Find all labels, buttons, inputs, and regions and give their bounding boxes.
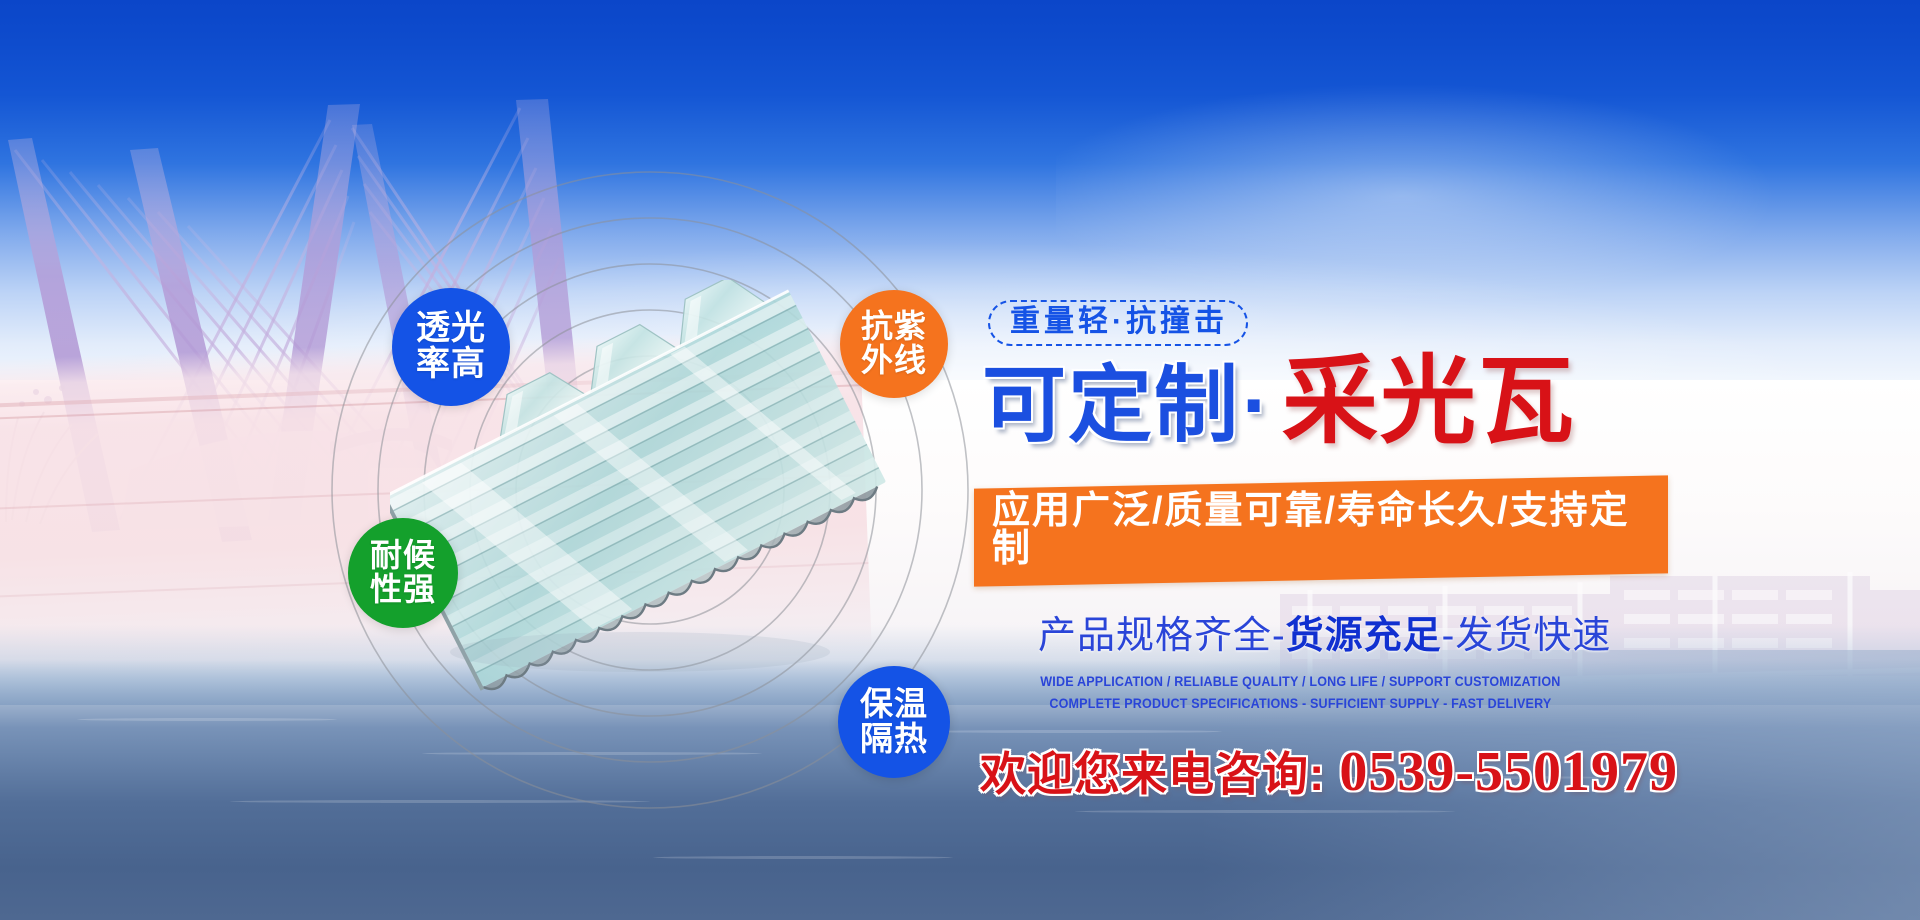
badge-light-transmittance-line2: 率高 xyxy=(416,347,486,383)
headline-product-name: 采光瓦 xyxy=(1282,348,1576,455)
sky-haze-glow-secondary xyxy=(1056,40,1920,300)
badge-light-transmittance-line1: 透光 xyxy=(416,311,486,347)
headline: 可定制·采光瓦 xyxy=(982,354,1668,450)
english-tagline-line1: WIDE APPLICATION / RELIABLE QUALITY / LO… xyxy=(1040,671,1561,693)
supply-subline-post: -发货快速 xyxy=(1442,615,1612,657)
feature-list-bar: 应用广泛/质量可靠/寿命长久/支持定制 xyxy=(974,475,1668,586)
supply-subline-pre: 产品规格齐全- xyxy=(1038,615,1286,657)
contact-phone-number[interactable]: 0539-5501979 xyxy=(1339,741,1678,803)
english-tagline-line2: COMPLETE PRODUCT SPECIFICATIONS - SUFFIC… xyxy=(1040,693,1561,715)
promo-copy-block: 重量轻·抗撞击 可定制·采光瓦 应用广泛/质量可靠/寿命长久/支持定制 产品规格… xyxy=(968,300,1668,804)
contact-phone-line[interactable]: 欢迎您来电咨询:0539-5501979 xyxy=(980,738,1668,804)
supply-subline: 产品规格齐全-货源充足-发货快速 xyxy=(1038,604,1668,659)
badge-uv-resistance-line2: 外线 xyxy=(861,344,927,378)
badge-thermal-insulation: 保温 隔热 xyxy=(838,666,950,778)
badge-light-transmittance: 透光 率高 xyxy=(392,288,510,406)
contact-phone-label: 欢迎您来电咨询: xyxy=(980,748,1325,800)
badge-weather-resistance-line1: 耐候 xyxy=(370,539,436,573)
feature-pill-tag: 重量轻·抗撞击 xyxy=(988,300,1248,346)
promo-banner: 透光 率高 抗紫 外线 耐候 性强 保温 隔热 重量轻·抗撞击 可定制·采光瓦 … xyxy=(0,0,1920,920)
badge-weather-resistance-line2: 性强 xyxy=(370,573,436,607)
headline-customizable: 可定制 xyxy=(982,358,1240,452)
badge-uv-resistance-line1: 抗紫 xyxy=(861,310,927,344)
supply-subline-strong: 货源充足 xyxy=(1286,615,1442,657)
feature-list-bar-text: 应用广泛/质量可靠/寿命长久/支持定制 xyxy=(992,492,1650,568)
badge-thermal-insulation-line1: 保温 xyxy=(860,687,928,722)
headline-separator-dot: · xyxy=(1240,358,1272,452)
english-tagline-block: WIDE APPLICATION / RELIABLE QUALITY / LO… xyxy=(1040,671,1561,716)
badge-uv-resistance: 抗紫 外线 xyxy=(840,290,948,398)
badge-thermal-insulation-line2: 隔热 xyxy=(860,722,928,757)
badge-weather-resistance: 耐候 性强 xyxy=(348,518,458,628)
